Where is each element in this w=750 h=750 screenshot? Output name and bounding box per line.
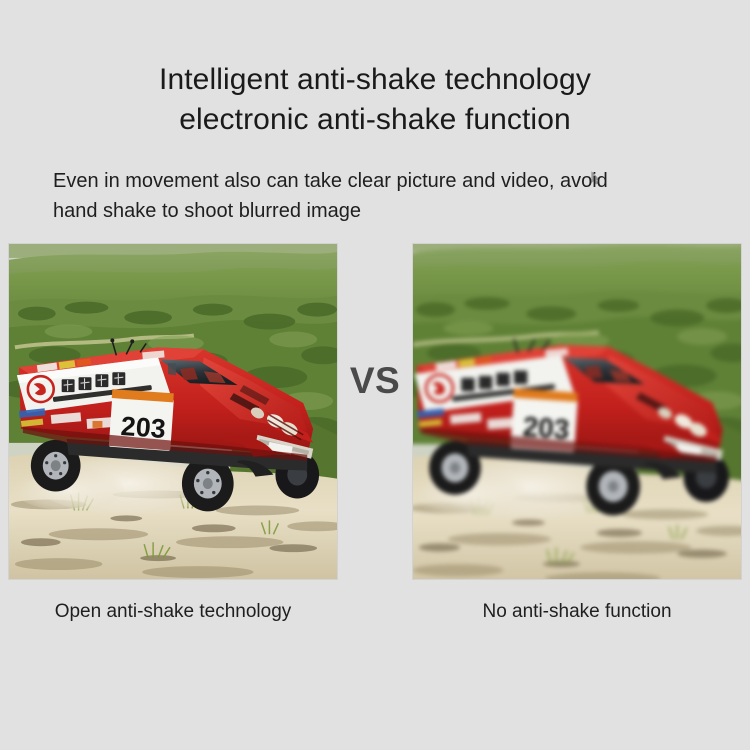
page-title-line-2: electronic anti-shake function <box>0 100 750 140</box>
page-subtitle: Even in movement also can take clear pic… <box>53 166 703 226</box>
photo-anti-shake-on: 203 <box>8 243 338 580</box>
page-subtitle-line-2: hand shake to shoot blurred image <box>53 196 703 226</box>
vs-divider-label: VS <box>338 360 412 402</box>
comparison-photo-row: 203 <box>0 243 750 580</box>
rally-suv-scene-sharp: 203 <box>9 244 337 579</box>
caption-anti-shake-on: Open anti-shake technology <box>8 601 338 623</box>
photo-anti-shake-off: 203 <box>412 243 742 580</box>
caption-anti-shake-off: No anti-shake function <box>412 601 742 623</box>
page-subtitle-line-1: Even in movement also can take clear pic… <box>53 166 703 196</box>
rally-suv-scene-blurred: 203 <box>412 243 742 580</box>
page-title-line-1: Intelligent anti-shake technology <box>0 60 750 100</box>
page-title: Intelligent anti-shake technology electr… <box>0 60 750 140</box>
